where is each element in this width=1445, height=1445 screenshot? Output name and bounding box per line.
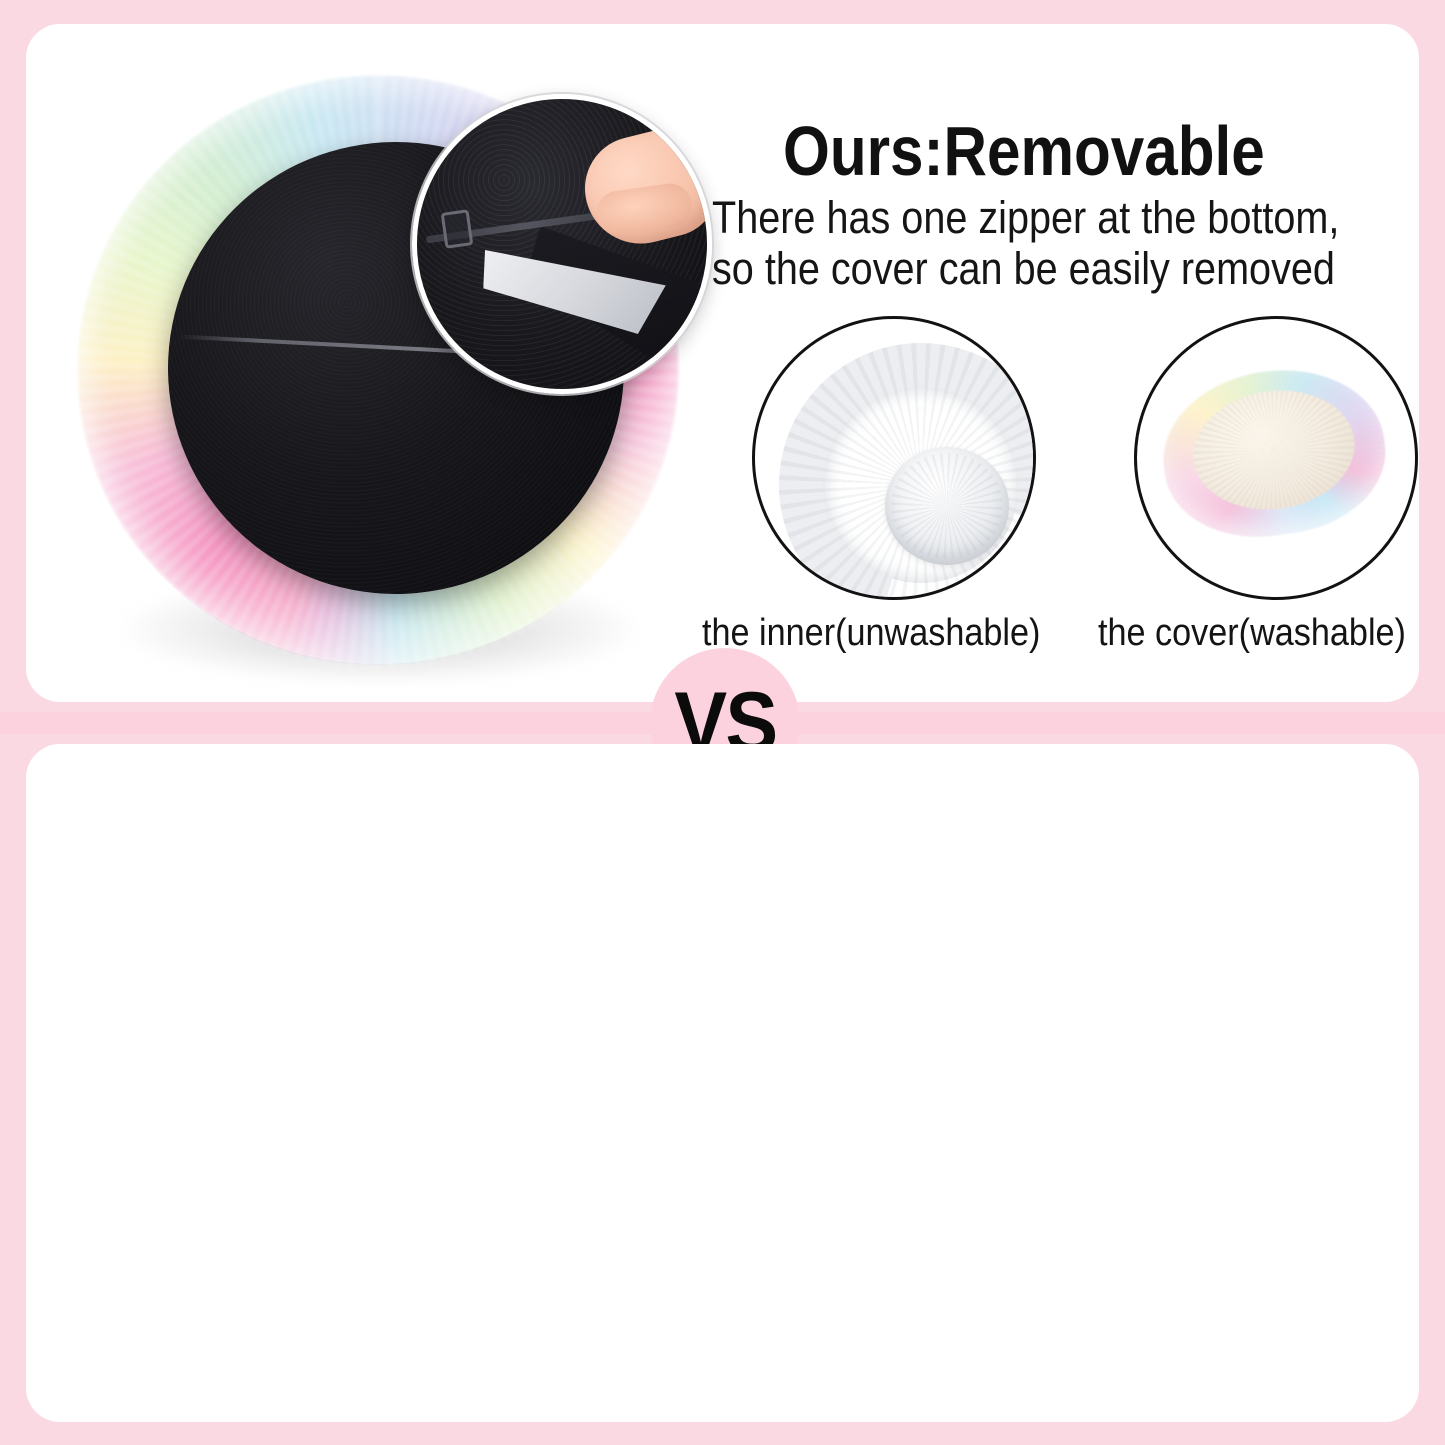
ours-panel: Ours:Removable There has one zipper at t… (26, 24, 1419, 702)
others-panel: Others:Unremovable There has no zipper a… (26, 744, 1419, 1422)
ours-headline: Ours:Removable (783, 116, 1265, 186)
cover-thumbnail-caption: the cover(washable) (1098, 614, 1406, 652)
ours-body-line-1: There has one zipper at the bottom, (712, 192, 1419, 243)
cover-thumbnail (1134, 316, 1418, 600)
ours-body-line-2: so the cover can be easily removed (712, 243, 1419, 294)
inner-thumbnail-caption: the inner(unwashable) (702, 614, 1040, 652)
round-cushion-pad (885, 447, 1009, 565)
ours-hero-image (60, 54, 700, 694)
zipper-pull-icon (441, 209, 474, 249)
inner-thumbnail (752, 316, 1036, 600)
u-shaped-bolster-insert (752, 316, 1036, 600)
infographic-stage: Ours:Removable There has one zipper at t… (0, 0, 1445, 1445)
ours-body-text: There has one zipper at the bottom, so t… (712, 192, 1419, 295)
zipper-closeup-inset (412, 94, 712, 394)
